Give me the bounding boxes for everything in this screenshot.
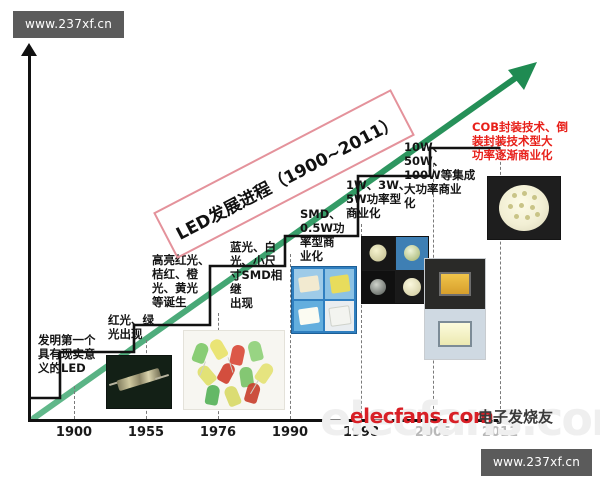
tick-label-1955: 1955 — [128, 425, 164, 440]
gridline-1900 — [74, 386, 75, 419]
tick-label-1976: 1976 — [200, 425, 236, 440]
caption-1976: 高亮红光、 桔红、橙 光、黄光 等诞生 — [152, 253, 220, 309]
colored-led-lamps-photo — [183, 330, 285, 410]
caption-2011-cob: COB封装技术、倒 装封装技术型大 功率逐渐商业化 — [472, 120, 594, 162]
chart-canvas: 发明第一个 具有现实意 义的LED 红光、绿 光出现 高亮红光、 桔红、橙 光、… — [0, 0, 600, 480]
cob-led-module-photo — [487, 176, 561, 240]
first-led-lamp-photo — [106, 355, 172, 409]
caption-1900: 发明第一个 具有现实意 义的LED — [38, 333, 112, 375]
tick-label-1900: 1900 — [56, 425, 92, 440]
elecfans-watermark: elecfans.com — [350, 404, 493, 428]
caption-1955: 红光、绿 光出现 — [108, 313, 170, 341]
caption-2011-integrated: 10W、50W、 100W等集成 大功率商业 化 — [404, 140, 480, 210]
watermark-badge-top: www.237xf.cn — [13, 11, 124, 38]
y-axis — [28, 52, 31, 422]
y-axis-arrow-icon — [21, 43, 37, 56]
smd-led-grid-photo — [291, 266, 357, 334]
power-led-grid-photo — [361, 236, 429, 304]
caption-1990: 蓝光、白 光、小尺 寸SMD相继 出现 — [230, 240, 292, 310]
elecfans-cn-watermark: 电子发烧友 — [478, 406, 553, 427]
integrated-high-power-led-photo — [424, 258, 486, 360]
tick-label-1990: 1990 — [272, 425, 308, 440]
watermark-badge-bottom: www.237xf.cn — [481, 449, 592, 476]
